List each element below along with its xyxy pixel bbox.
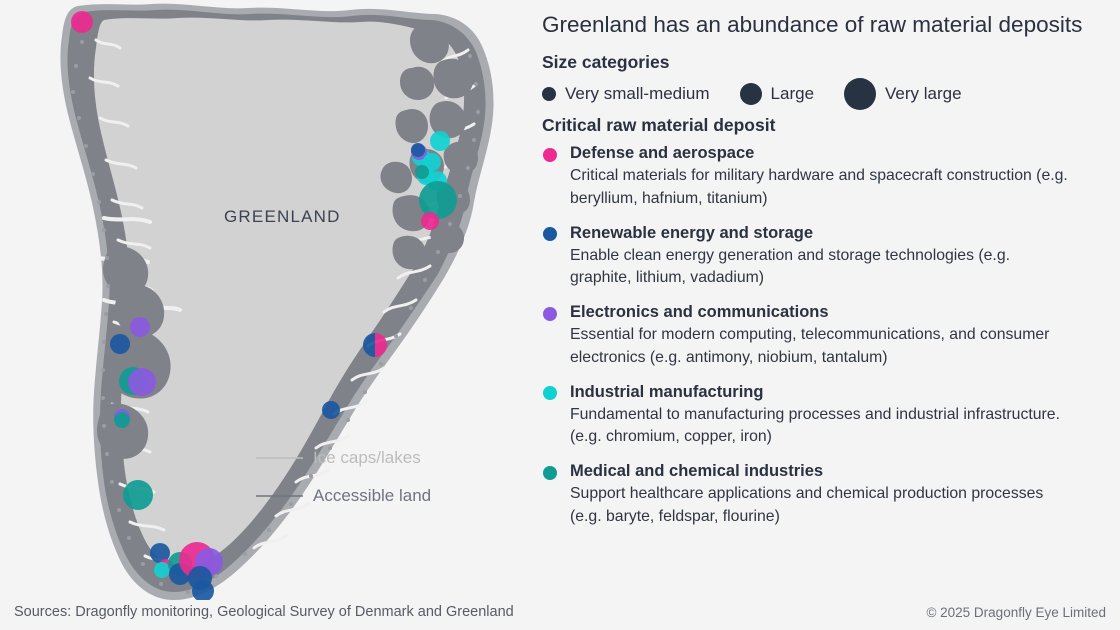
category-title: Industrial manufacturing (570, 382, 1120, 403)
callout-label-ice-caps: Ice caps/lakes (313, 448, 421, 468)
greenland-map: GREENLAND Ice caps/lakes Accessible land (0, 0, 536, 600)
category-bullet-icon (543, 386, 557, 400)
category-description: Critical materials for military hardware… (570, 165, 1070, 210)
infographic-root: GREENLAND Ice caps/lakes Accessible land… (0, 0, 1120, 630)
size-legend-dot-icon (542, 87, 556, 101)
category-bullet-icon (543, 227, 557, 241)
category-bullet-icon (543, 148, 557, 162)
category-legend-list: Defense and aerospaceCritical materials … (542, 143, 1120, 541)
deposit-bubble-west-renewable-1[interactable] (110, 334, 130, 354)
copyright-text: © 2025 Dragonfly Eye Limited (926, 605, 1106, 620)
size-legend-label: Very small-medium (565, 84, 710, 104)
size-legend-item-2: Very large (844, 78, 962, 110)
deposit-bubble-north-west-defense[interactable] (71, 11, 93, 33)
deposit-bubble-east-medical-1[interactable] (415, 165, 429, 179)
footer: Sources: Dragonfly monitoring, Geologica… (0, 600, 1120, 630)
size-legend-item-0: Very small-medium (542, 84, 710, 104)
callout-label-accessible-land: Accessible land (313, 486, 431, 506)
size-legend-label: Very large (885, 84, 962, 104)
page-title: Greenland has an abundance of raw materi… (542, 12, 1082, 38)
category-legend-entry-1[interactable]: Renewable energy and storageEnable clean… (542, 223, 1120, 290)
category-legend-entry-4[interactable]: Medical and chemical industriesSupport h… (542, 461, 1120, 528)
category-title: Defense and aerospace (570, 143, 1120, 164)
critical-raw-material-heading: Critical raw material deposit (542, 115, 775, 136)
deposit-bubble-west-electronics-1[interactable] (130, 317, 150, 337)
deposit-bubble-east-renewable-1[interactable] (411, 143, 425, 157)
size-legend-item-1: Large (740, 83, 814, 105)
sources-text: Sources: Dragonfly monitoring, Geologica… (14, 604, 514, 620)
country-label: GREENLAND (224, 207, 341, 227)
category-legend-entry-0[interactable]: Defense and aerospaceCritical materials … (542, 143, 1120, 210)
size-categories-row: Very small-mediumLargeVery large (542, 78, 962, 110)
category-description: Support healthcare applications and chem… (570, 483, 1070, 528)
deposit-bubble-west-electronics-2[interactable] (128, 368, 156, 396)
category-title: Medical and chemical industries (570, 461, 1120, 482)
category-title: Electronics and communications (570, 302, 1120, 323)
deposit-bubble-east-medical-large[interactable] (419, 181, 457, 219)
category-bullet-icon (543, 307, 557, 321)
category-legend-entry-2[interactable]: Electronics and communicationsEssential … (542, 302, 1120, 369)
deposit-bubble-southeast-renewable-2[interactable] (322, 401, 340, 419)
category-title: Renewable energy and storage (570, 223, 1120, 244)
size-legend-label: Large (771, 84, 814, 104)
deposit-bubble-southwest-medical[interactable] (123, 480, 153, 510)
deposit-bubble-east-industrial-2[interactable] (430, 131, 450, 151)
deposit-bubble-west-medical-2[interactable] (114, 412, 130, 428)
category-description: Enable clean energy generation and stora… (570, 245, 1070, 290)
category-bullet-icon (543, 466, 557, 480)
map-svg (0, 0, 536, 600)
category-description: Essential for modern computing, telecomm… (570, 324, 1070, 369)
deposit-bubble-south-industrial-1[interactable] (154, 562, 170, 578)
size-legend-dot-icon (740, 83, 762, 105)
legend-panel: Greenland has an abundance of raw materi… (540, 0, 1120, 600)
size-categories-heading: Size categories (542, 52, 669, 73)
size-legend-dot-icon (844, 78, 876, 110)
category-description: Fundamental to manufacturing processes a… (570, 404, 1070, 449)
deposit-bubble-east-defense-1[interactable] (421, 212, 439, 230)
category-legend-entry-3[interactable]: Industrial manufacturingFundamental to m… (542, 382, 1120, 449)
